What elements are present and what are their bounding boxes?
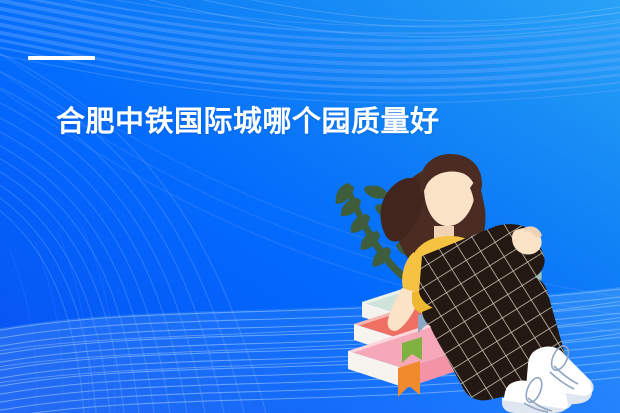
illustration-woman-on-books	[318, 152, 620, 413]
promo-banner: 合肥中铁国际城哪个园质量好	[0, 0, 620, 413]
